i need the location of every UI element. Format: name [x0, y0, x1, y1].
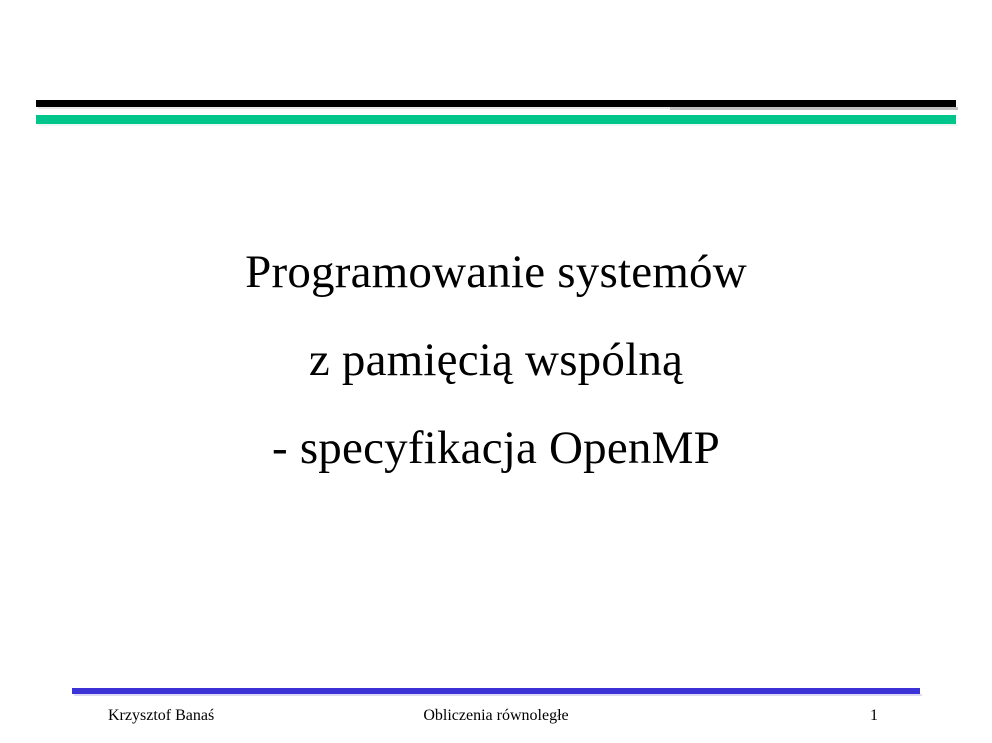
header-rule-black: [36, 100, 956, 107]
title-line-1: Programowanie systemów: [0, 228, 992, 316]
header-rule-teal-shadow: [38, 124, 958, 126]
footer-rule-blue-shadow: [74, 694, 922, 696]
header-decoration: [36, 100, 956, 126]
title-line-3: - specyfikacja OpenMP: [0, 404, 992, 492]
header-rule-teal: [36, 115, 956, 124]
header-rule-black-shadow: [670, 107, 958, 110]
slide-title: Programowanie systemów z pamięcią wspóln…: [0, 228, 992, 492]
slide-footer: Krzysztof Banaś Obliczenia równoległe 1: [72, 703, 920, 733]
slide-canvas: Programowanie systemów z pamięcią wspóln…: [0, 0, 992, 743]
footer-page-number: 1: [870, 703, 878, 729]
title-line-2: z pamięcią wspólną: [0, 316, 992, 404]
footer-course-title: Obliczenia równoległe: [72, 703, 920, 729]
